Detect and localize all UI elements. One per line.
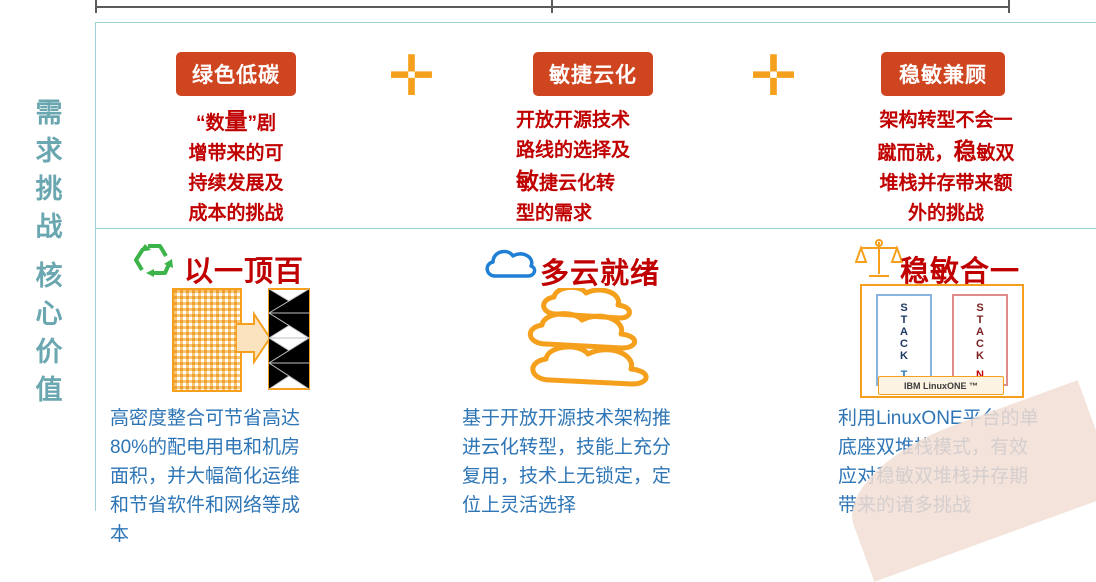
value-body-2-line-2: 进云化转型，技能上充分 <box>462 433 752 462</box>
stack-box-left: S T A C K T <box>876 294 932 386</box>
value-body-1-line-3: 面积，并大幅简化运维 <box>110 462 360 491</box>
row-label-needs: 需 求 挑 战 <box>0 94 100 246</box>
challenge-title-2: 敏捷云化 <box>533 52 653 96</box>
value-body-1-line-1: 高密度整合可节省高达 <box>110 404 360 433</box>
value-headline-2: 多云就绪 <box>540 250 660 292</box>
bracket-tick-center <box>551 0 553 13</box>
stack-left-letter-2: T <box>901 314 908 326</box>
scales-icon <box>855 238 903 280</box>
density-grid-graphic <box>172 288 242 392</box>
challenge-body-2-line-3: 敏捷云化转 <box>516 166 671 199</box>
divider-top <box>95 22 1096 23</box>
challenge-body-3-line-3: 堆栈并存带来额 <box>866 169 1026 199</box>
stack-right-letter-3: A <box>976 326 984 338</box>
row-label-value-char-1: 核 <box>0 257 100 295</box>
value-body-1-line-2: 80%的配电用电和机房 <box>110 433 360 462</box>
challenge-body-1-line-4: 成本的挑战 <box>156 199 316 229</box>
value-body-2-line-4: 位上灵活选择 <box>462 491 752 520</box>
value-body-1: 高密度整合可节省高达 80%的配电用电和机房 面积，并大幅简化运维 和节省软件和… <box>110 404 360 549</box>
stack-right-letter-4: C <box>976 338 984 350</box>
row-label-value-char-4: 值 <box>0 371 100 409</box>
challenge-body-3-line-4: 外的挑战 <box>866 199 1026 229</box>
top-bracket <box>95 0 1010 14</box>
value-body-2-line-1: 基于开放开源技术架构推 <box>462 404 752 433</box>
network-mesh-graphic <box>268 288 310 390</box>
value-body-1-line-5: 本 <box>110 520 360 549</box>
stack-right-letter-5: K <box>976 350 984 362</box>
value-headline-1: 以一顶百 <box>184 248 304 290</box>
stack-left-letter-1: S <box>900 302 907 314</box>
row-label-needs-char-1: 需 <box>0 94 100 132</box>
plus-icon-2: ✛ <box>750 48 797 104</box>
stack-right-letter-2: T <box>977 314 984 326</box>
recycle-icon <box>132 240 176 280</box>
challenge-body-1: “数量”剧 增带来的可 持续发展及 成本的挑战 <box>156 106 316 229</box>
challenge-body-1-line-2: 增带来的可 <box>156 139 316 169</box>
challenge-body-3-line-1: 架构转型不会一 <box>866 106 1026 136</box>
slide-canvas: 需 求 挑 战 核 心 价 值 绿色低碳 “数量”剧 增带来的可 持续发展及 成… <box>0 0 1096 511</box>
linuxone-brand-bar: IBM LinuxONE ™ <box>878 376 1004 395</box>
stack-box-right: S T A C K N <box>952 294 1008 386</box>
row-label-value: 核 心 价 值 <box>0 257 100 409</box>
challenge-body-1-line-1: “数量”剧 <box>156 106 316 139</box>
stack-left-letter-4: C <box>900 338 908 350</box>
plus-icon-1: ✛ <box>388 48 435 104</box>
row-label-value-char-2: 心 <box>0 295 100 333</box>
challenge-body-2-line-4: 型的需求 <box>516 199 671 229</box>
row-label-needs-char-4: 战 <box>0 208 100 246</box>
challenge-title-1: 绿色低碳 <box>176 52 296 96</box>
challenge-body-2: 开放开源技术 路线的选择及 敏捷云化转 型的需求 <box>516 106 671 229</box>
row-label-needs-char-3: 挑 <box>0 170 100 208</box>
left-label-column: 需 求 挑 战 核 心 价 值 <box>0 22 100 511</box>
challenge-title-3: 稳敏兼顾 <box>881 52 1005 96</box>
bracket-tick-left <box>95 0 97 13</box>
value-body-2-line-3: 复用，技术上无锁定，定 <box>462 462 752 491</box>
stack-left-letter-3: A <box>900 326 908 338</box>
stack-left-letter-5: K <box>900 350 908 362</box>
challenge-body-3: 架构转型不会一 蹴而就，稳敏双 堆栈并存带来额 外的挑战 <box>866 106 1026 229</box>
value-body-2: 基于开放开源技术架构推 进云化转型，技能上充分 复用，技术上无锁定，定 位上灵活… <box>462 404 752 520</box>
challenge-body-2-line-1: 开放开源技术 <box>516 106 671 136</box>
cloud-icon <box>483 246 539 280</box>
cloud-stack-graphic <box>516 288 676 388</box>
value-body-1-line-4: 和节省软件和网络等成 <box>110 491 360 520</box>
stack-left-letters: S T A C K <box>878 302 930 362</box>
stack-right-letters: S T A C K <box>954 302 1006 362</box>
challenge-body-3-line-2: 蹴而就，稳敏双 <box>866 136 1026 169</box>
arrow-right-icon <box>236 310 272 366</box>
row-label-needs-char-2: 求 <box>0 132 100 170</box>
challenge-body-1-line-3: 持续发展及 <box>156 169 316 199</box>
challenge-body-2-line-2: 路线的选择及 <box>516 136 671 166</box>
row-label-value-char-3: 价 <box>0 333 100 371</box>
bracket-tick-right <box>1008 0 1010 13</box>
stack-right-letter-1: S <box>976 302 983 314</box>
